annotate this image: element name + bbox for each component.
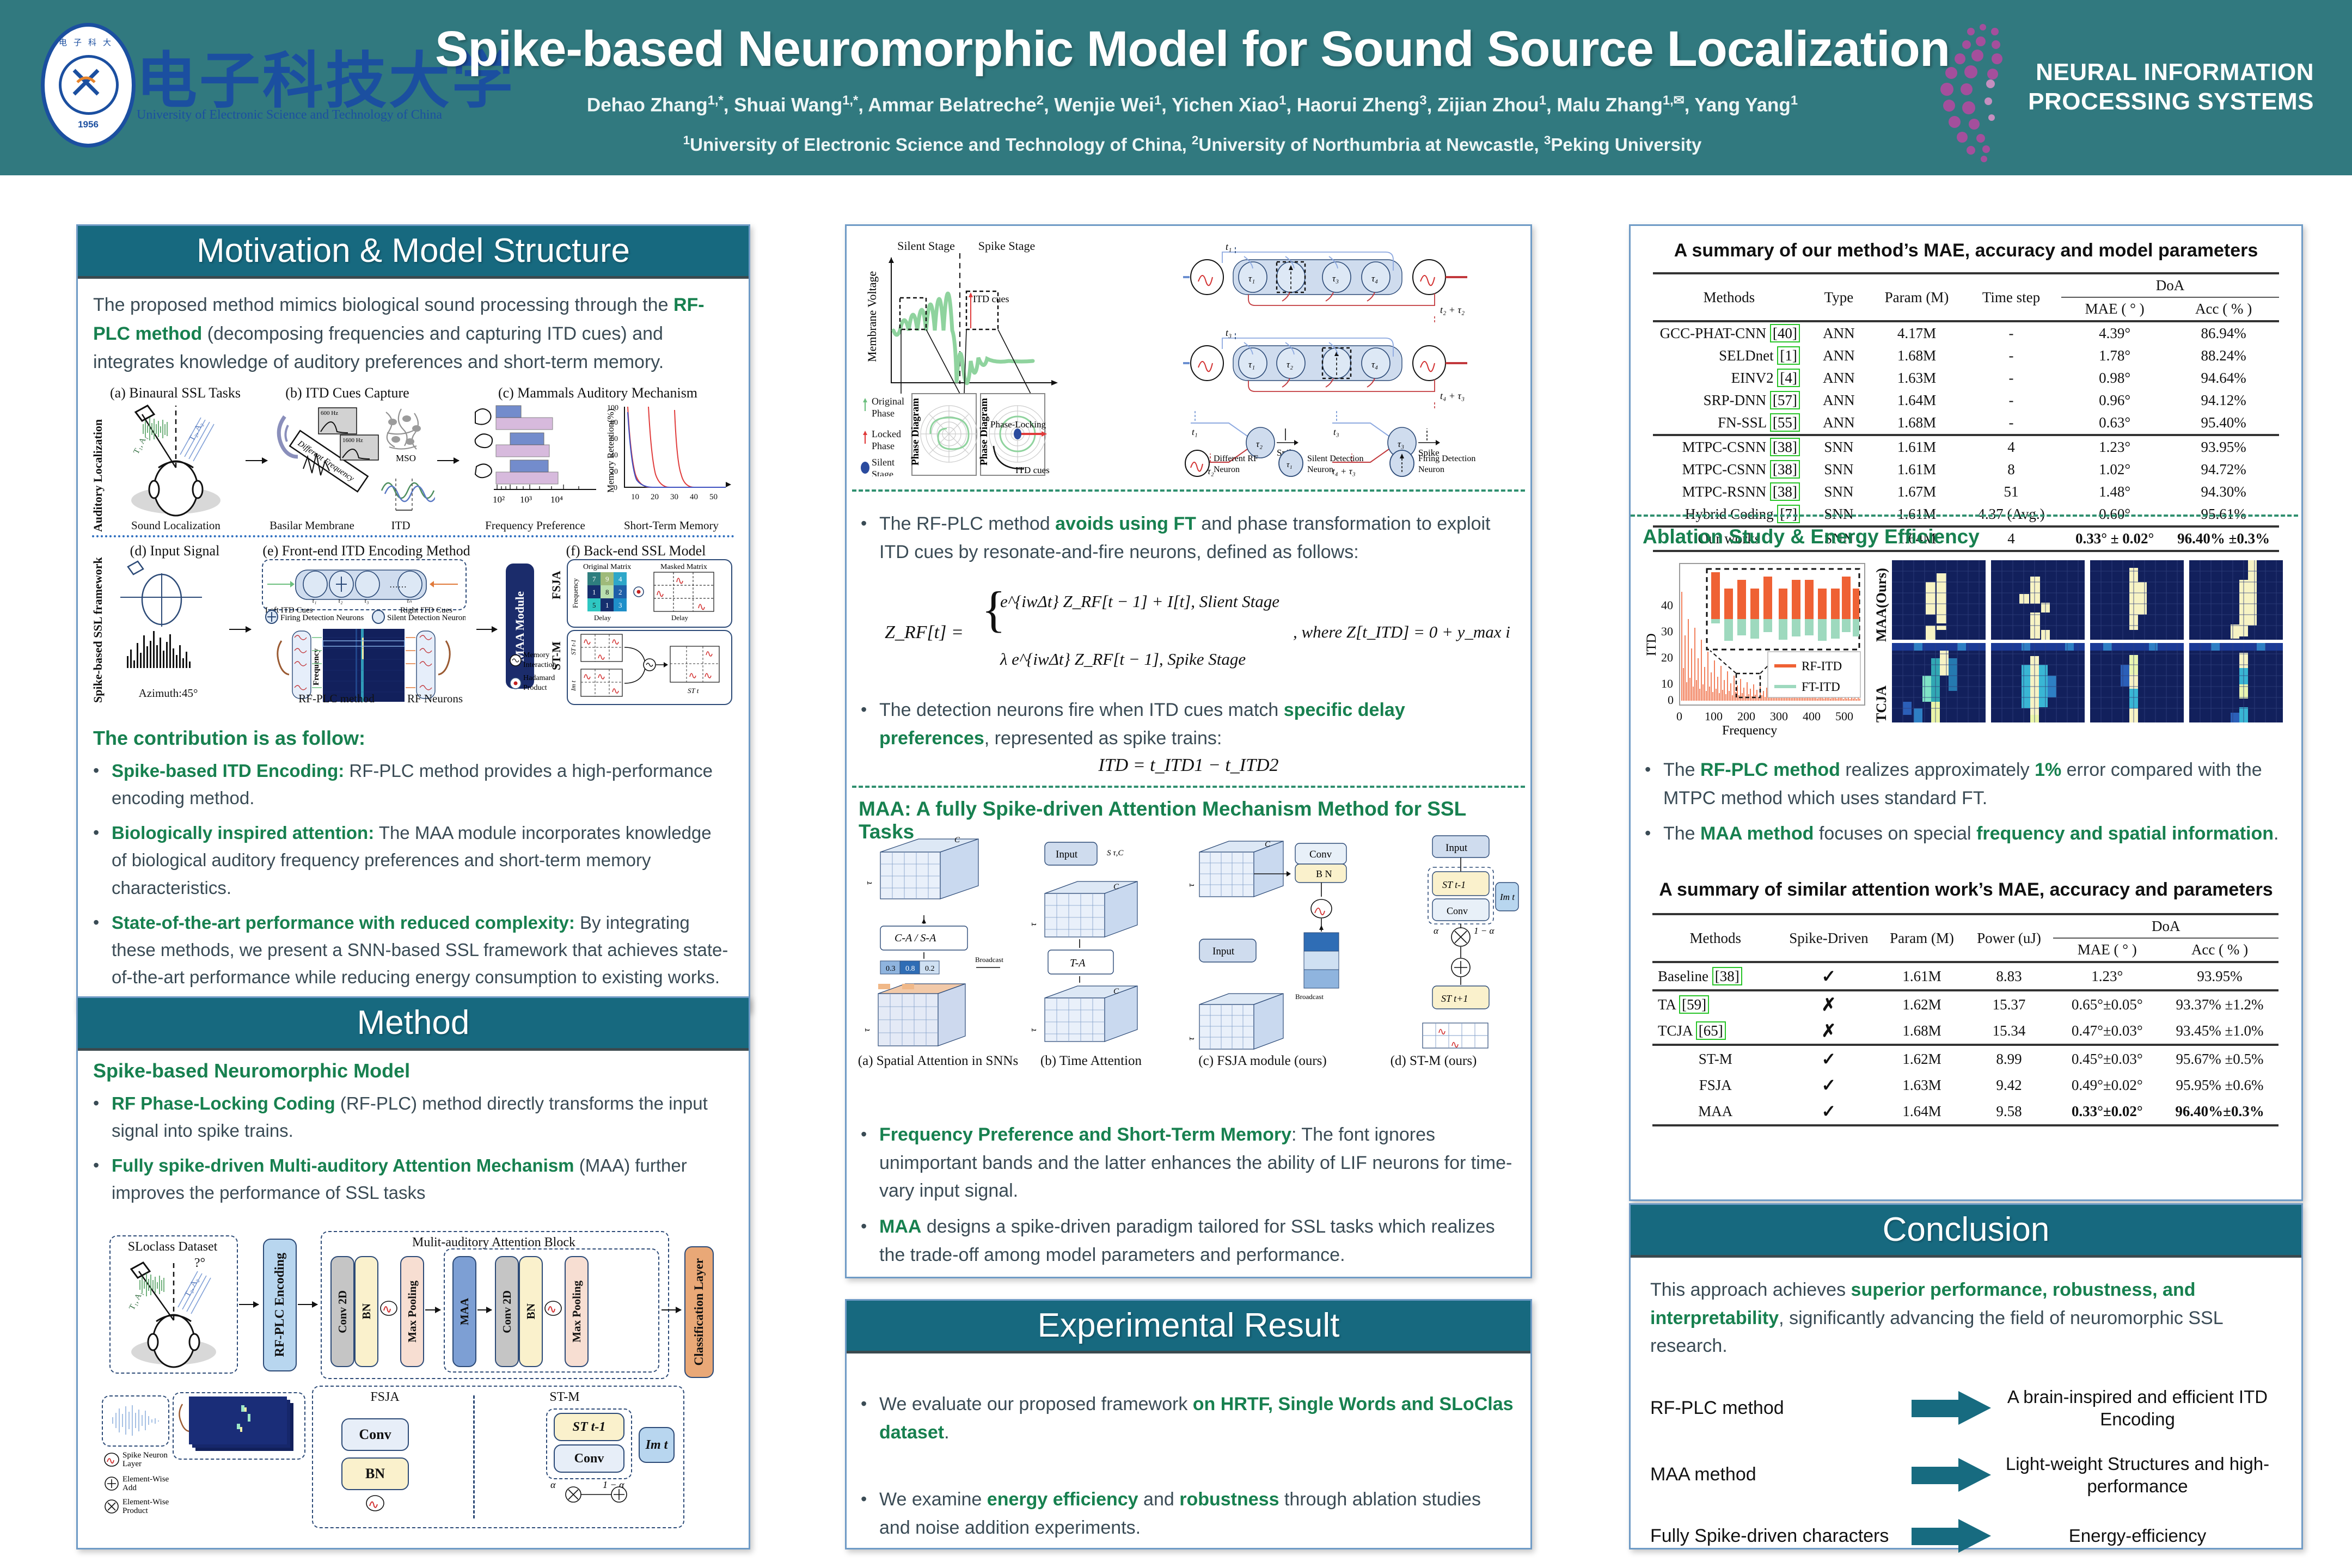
frequency-preference-icon: 10² 10³ 10⁴ — [470, 403, 606, 517]
conclusion-row-2: MAA method Light-weight Structures and h… — [1650, 1453, 2282, 1498]
svg-text:T₁, A₁: T₁, A₁ — [132, 434, 149, 456]
block-maxpool-2-label: Max Pooling — [570, 1281, 584, 1343]
ablation-bullet-2: • The MAA method focuses on special freq… — [1645, 820, 2287, 848]
abl-b2-pre: The — [1663, 823, 1700, 844]
svg-text:Frequency: Frequency — [1722, 724, 1777, 738]
svg-text:ITD cues: ITD cues — [973, 293, 1009, 304]
stm-conv-label: Conv — [574, 1451, 604, 1466]
block-conv2d-1: Conv 2D — [330, 1256, 354, 1367]
th-acc: Acc ( % ) — [2168, 297, 2279, 321]
contribution-1-lead: Spike-based ITD Encoding: — [112, 761, 344, 781]
svg-text:Masked Matrix: Masked Matrix — [660, 563, 707, 571]
th-timestep: Time step — [1961, 273, 2061, 321]
svg-text:Broadcast: Broadcast — [1295, 993, 1324, 1001]
svg-text:20: 20 — [1661, 651, 1673, 664]
svg-text:0.2: 0.2 — [925, 965, 935, 973]
svg-text:3: 3 — [618, 601, 622, 609]
figure-caption-e: (e) Front-end ITD Encoding Method — [258, 543, 475, 559]
svg-text:C: C — [954, 836, 960, 844]
th2-methods: Methods — [1652, 914, 1778, 962]
svg-text:0.8: 0.8 — [905, 965, 915, 973]
ustc-seal-year: 1956 — [45, 119, 132, 130]
svg-text:600 Hz: 600 Hz — [321, 410, 338, 416]
table-row: GCC-PHAT-CNN [40]ANN4.17M-4.39°86.94% — [1653, 321, 2279, 345]
exp-b2-highlight-1: energy efficiency — [987, 1489, 1138, 1510]
rfplc-encoding-pill: RF-PLC Encoding — [263, 1239, 297, 1371]
svg-text:8: 8 — [605, 588, 609, 596]
svg-text:2: 2 — [618, 588, 622, 596]
svg-text:Neuron: Neuron — [1307, 465, 1333, 474]
table-row: EINV2 [4]ANN1.63M-0.98°94.64% — [1653, 367, 2279, 389]
conclusion-row-1: RF-PLC method A brain-inspired and effic… — [1650, 1386, 2282, 1431]
svg-text:40: 40 — [610, 451, 618, 460]
table2-body: Baseline [38] ✓ 1.61M 8.83 1.23° 93.95% … — [1652, 962, 2278, 1126]
figure-divider — [92, 535, 734, 537]
conclusion-row-3-left: Fully Spike-driven characters — [1650, 1526, 1912, 1547]
svg-text:Original: Original — [872, 396, 904, 407]
svg-text:Neuron: Neuron — [1418, 465, 1444, 474]
figure-sub-a: Sound Localization — [111, 519, 241, 532]
abl-b2-hi: MAA method — [1700, 823, 1814, 844]
svg-text:Hadamard: Hadamard — [523, 674, 555, 682]
maa-bullet-1: • Frequency Preference and Short-Term Me… — [861, 1121, 1516, 1205]
rf-neuron-chain-diagram: τ₁τ₃τ₄ t₁ t₂ + τ₂ — [1179, 241, 1522, 481]
svg-text:τ: τ — [1189, 1037, 1196, 1040]
th-type: Type — [1805, 273, 1872, 321]
fsja-stm-divider — [473, 1395, 475, 1518]
maa-caption-a: (a) Spatial Attention in SNNs — [856, 1053, 1020, 1069]
svg-text:20: 20 — [610, 468, 618, 476]
neuron-type-legend: Different RF Neuron τ₁ Silent Detection … — [1184, 447, 1522, 481]
th-doa: DoA — [2061, 273, 2279, 297]
neurips-line-2: PROCESSING SYSTEMS — [2009, 87, 2314, 117]
waveform-icon — [104, 1399, 165, 1442]
svg-text:α: α — [1434, 926, 1439, 936]
equation-1-lhs: Z_RF[t] = — [885, 622, 964, 643]
svg-text:ITD: ITD — [1644, 633, 1659, 656]
svg-text:40: 40 — [1661, 598, 1673, 612]
svg-text:FT-ITD: FT-ITD — [1802, 680, 1840, 694]
block-conv2d-1-label: Conv 2D — [336, 1290, 350, 1333]
svg-text:Silent Detection: Silent Detection — [1307, 454, 1364, 463]
svg-text:B N: B N — [1316, 868, 1332, 879]
maa-b2-rest: designs a spike-driven paradigm tailored… — [879, 1216, 1495, 1265]
maa-caption-c: (c) FSJA module (ours) — [1181, 1053, 1344, 1069]
block-conv2d-2: Conv 2D — [495, 1256, 519, 1367]
svg-text:α: α — [550, 1479, 556, 1490]
page-title: Spike-based Neuromorphic Model for Sound… — [403, 21, 1982, 78]
motivation-figure: Auditory Localization Spike-based SSL fr… — [89, 384, 737, 710]
arrow-maa-to-conv2 — [477, 1309, 492, 1310]
spike-driven-mark: ✗ — [1778, 1018, 1879, 1045]
table1-title: A summary of our method’s MAE, accuracy … — [1641, 240, 2290, 261]
svg-text:C: C — [1113, 883, 1119, 891]
block-maa-label: MAA — [458, 1298, 471, 1325]
method-legend: Spike Neuron Layer Element-Wise Add Elem… — [103, 1450, 255, 1515]
svg-text:10: 10 — [631, 493, 639, 501]
svg-text:100: 100 — [607, 404, 618, 412]
spatial-attention-diagram: τ C C-A / S-A 0.3 0.8 0.2 Broadcast — [859, 830, 1022, 1059]
bullet-dot: • — [1645, 820, 1663, 848]
block-bn-1: BN — [354, 1256, 378, 1367]
block-maxpool-1: Max Pooling — [400, 1256, 424, 1367]
svg-text:S τ,C: S τ,C — [1107, 849, 1124, 857]
stm-module-diagram: Input ST t-1 Conv Im t α 1 − α ST t+1 — [1363, 830, 1521, 1059]
svg-text:Im t: Im t — [569, 680, 577, 691]
basilar-membrane-icon: Different Frequency 600 Hz 1600 Hz MSO — [272, 403, 435, 517]
fsja-module-diagram: τ C Conv B N Broadcast Input — [1189, 830, 1363, 1059]
svg-text:τ: τ — [861, 1028, 872, 1032]
table1-header-row: Methods Type Param (M) Time step DoA — [1653, 273, 2279, 297]
method-2-lead: Fully spike-driven Multi-auditory Attent… — [112, 1155, 574, 1175]
svg-text:Im t: Im t — [1499, 892, 1515, 902]
stm-prev-block: ST t-1 — [554, 1413, 624, 1441]
cell-method: MTPC-RSNN [38] — [1653, 481, 1805, 503]
table1-body: GCC-PHAT-CNN [40]ANN4.17M-4.39°86.94% SE… — [1653, 321, 2279, 552]
svg-text:Locked: Locked — [872, 428, 901, 439]
svg-text:100: 100 — [1705, 709, 1723, 723]
bullet-dot: • — [861, 696, 879, 752]
cell-method: SELDnet [1] — [1653, 345, 1805, 367]
method-heading: Method — [78, 998, 749, 1051]
fsja-stm-legend: Memory Interaction Hadamard Product — [508, 628, 562, 696]
svg-text:τ: τ — [1189, 883, 1196, 887]
figure-sub-b2: ITD — [371, 519, 431, 532]
svg-text:10³: 10³ — [520, 494, 532, 505]
svg-text:Silent Detection Neurons: Silent Detection Neurons — [387, 614, 465, 622]
stm-conv-block: Conv — [554, 1444, 624, 1473]
spike-driven-mark: ✓ — [1778, 962, 1879, 990]
ustc-english-name: University of Electronic Science and Tec… — [137, 108, 442, 122]
svg-text:t₂ + τ₂: t₂ + τ₂ — [1440, 304, 1465, 315]
svg-text:τ: τ — [863, 881, 874, 885]
svg-text:τ₄: τ₄ — [1371, 273, 1378, 284]
equation-1-case-1: e^{iwΔt} Z_RF[t − 1] + I[t], Slient Stag… — [1000, 592, 1279, 611]
equation-1-where: , where Z[t_ITD] = 0 + y_max i — [1293, 622, 1510, 642]
maa-bullet-2: • MAA designs a spike-driven paradigm ta… — [861, 1213, 1516, 1269]
fsja-detail-label: FSJA — [325, 1390, 445, 1405]
svg-text:1: 1 — [592, 588, 596, 596]
block-maxpool-1-label: Max Pooling — [406, 1281, 419, 1343]
svg-text:Firing Detection Neurons: Firing Detection Neurons — [280, 614, 364, 622]
svg-text:Product: Product — [122, 1506, 148, 1515]
figure-sub-b: Basilar Membrane — [268, 519, 356, 532]
svg-text:Phase-Locking: Phase-Locking — [990, 419, 1046, 430]
method-bullet-1: • RF Phase-Locking Coding (RF-PLC) metho… — [93, 1090, 733, 1144]
svg-text:τ₁: τ₁ — [1287, 461, 1293, 469]
maa-figure: τ C C-A / S-A 0.3 0.8 0.2 Broadcast — [856, 830, 1524, 1070]
svg-text:T-A: T-A — [1070, 957, 1086, 969]
abl-b1-hi2: 1% — [2035, 759, 2061, 780]
equation-1: Z_RF[t] = { e^{iwΔt} Z_RF[t − 1] + I[t],… — [879, 580, 1516, 683]
svg-text:τₙ: τₙ — [407, 597, 412, 604]
author-list: Dehao Zhang1,*, Shuai Wang1,*, Ammar Bel… — [403, 93, 1982, 117]
table-row: MTPC-CSNN [38]SNN1.61M41.23°93.95% — [1653, 435, 2279, 458]
th2-param: Param (M) — [1879, 914, 1964, 962]
block-bn-1-label: BN — [360, 1303, 373, 1319]
arrow-pool1-to-maa — [425, 1309, 440, 1310]
figure-caption-a: (a) Binaural SSL Tasks — [107, 385, 243, 401]
svg-text:50: 50 — [709, 493, 718, 501]
th2-doa: DoA — [2053, 914, 2278, 938]
svg-text:τ: τ — [1028, 922, 1038, 926]
figure-caption-f: (f) Back-end SSL Model — [546, 543, 726, 559]
abl-b1-mid: realizes approximately — [1840, 759, 2035, 780]
rfplc-b1-highlight: avoids using FT — [1055, 513, 1196, 534]
ustc-seal-top-text: 电子科大 — [45, 36, 132, 48]
table-row: TA [59] ✗ 1.62M 15.37 0.65°±0.05° 93.37%… — [1652, 990, 2278, 1018]
block-bn-2-label: BN — [524, 1303, 538, 1319]
stm-detail-label: ST-M — [505, 1390, 624, 1405]
bullet-dot: • — [93, 819, 112, 901]
method-1-lead: RF Phase-Locking Coding — [112, 1093, 335, 1113]
abl-b2-hi2: frequency and spatial information — [1976, 823, 2274, 844]
rfplc-b1-a: The RF-PLC method — [879, 513, 1055, 534]
rfplc-encoding-label: RF-PLC Encoding — [273, 1253, 287, 1357]
spike-driven-mark: ✓ — [1778, 1072, 1879, 1098]
cell-method: TA [59] — [1652, 990, 1778, 1018]
svg-text:Layer: Layer — [122, 1460, 142, 1468]
neurips-wordmark: NEURAL INFORMATION PROCESSING SYSTEMS — [2009, 58, 2314, 116]
svg-text:Conv: Conv — [1309, 849, 1332, 860]
method-panel: Method Spike-based Neuromorphic Model • … — [76, 996, 750, 1549]
svg-text:Memory: Memory — [523, 651, 549, 659]
method-bullet-2: • Fully spike-driven Multi-auditory Atte… — [93, 1152, 733, 1206]
conclusion-row-3: Fully Spike-driven characters Energy-eff… — [1650, 1519, 2282, 1553]
svg-text:Phase Diagram: Phase Diagram — [910, 398, 921, 465]
svg-text:80: 80 — [610, 419, 618, 427]
conclusion-row-3-right: Energy-efficiency — [1993, 1524, 2282, 1547]
membrane-voltage-chart: Membrane Voltage ITD cues OriginalPhase … — [857, 248, 1184, 476]
svg-text:7: 7 — [592, 575, 596, 583]
svg-text:Phase: Phase — [872, 408, 895, 419]
th-mae: MAE ( ° ) — [2061, 297, 2168, 321]
spike-driven-mark: ✗ — [1778, 990, 1879, 1018]
abl-b2-post: . — [2274, 823, 2278, 844]
svg-text:10⁴: 10⁴ — [550, 494, 563, 505]
svg-text:Delay: Delay — [671, 614, 689, 622]
row1-side-label: Auditory Localization — [91, 407, 105, 532]
classification-layer-label: Classification Layer — [692, 1258, 706, 1365]
svg-text:1600 Hz: 1600 Hz — [342, 437, 363, 444]
th2-acc: Acc ( % ) — [2161, 938, 2278, 962]
cell-method: MAA — [1652, 1098, 1778, 1125]
th2-mae: MAE ( ° ) — [2053, 938, 2161, 962]
conclusion-row-1-left: RF-PLC method — [1650, 1398, 1912, 1419]
exp-b1-pre: We evaluate our proposed framework — [879, 1394, 1193, 1414]
attention-block-title: Mulit-auditory Attention Block — [326, 1235, 661, 1250]
svg-text:ST t: ST t — [688, 687, 699, 695]
bullet-dot: • — [861, 510, 879, 566]
results-divider-1 — [1631, 514, 2298, 517]
cell-method: SRP-DNN [57] — [1653, 389, 1805, 412]
svg-text:τ₃: τ₃ — [1332, 273, 1339, 284]
svg-text:40: 40 — [690, 493, 698, 501]
equation-1-case-2: λ e^{iwΔt} Z_RF[t − 1], Spike Stage — [1000, 650, 1246, 669]
experimental-heading: Experimental Result — [847, 1301, 1530, 1353]
fsja-matrix-figure: Original Matrix Masked Matrix 7 9 4 1 8 … — [568, 560, 729, 626]
figure-sub-c: Frequency Preference — [464, 519, 606, 532]
th-param: Param (M) — [1872, 273, 1961, 321]
results-table-2: Methods Spike-Driven Param (M) Power (uJ… — [1652, 913, 2278, 1126]
svg-text:τ₁: τ₁ — [312, 597, 316, 604]
table2-title: A summary of similar attention work’s MA… — [1637, 879, 2295, 901]
stm-figure: ST t-1 Im t ST t — [568, 631, 729, 703]
arrow-right-icon-3 — [1912, 1519, 1993, 1553]
svg-text:τ: τ — [1028, 1028, 1038, 1032]
fsja-conv-label: Conv — [359, 1426, 391, 1443]
attention-heatmaps — [1892, 560, 2284, 724]
arrow-right-icon-1 — [1912, 1391, 1993, 1425]
rfplc-figure: Silent Stage Spike Stage Membrane Voltag… — [852, 231, 1527, 482]
svg-text:20: 20 — [651, 493, 659, 501]
svg-text:Input: Input — [1212, 946, 1235, 957]
cell-method: FN-SSL [55] — [1653, 412, 1805, 435]
svg-text:t₃: t₃ — [1333, 427, 1339, 437]
conclusion-row-1-right: A brain-inspired and efficient ITD Encod… — [1993, 1386, 2282, 1431]
fsja-spike-icon — [363, 1491, 387, 1515]
arrow-encoder-to-block — [298, 1304, 317, 1305]
svg-text:0: 0 — [614, 484, 617, 492]
svg-text:Conv: Conv — [1447, 905, 1468, 916]
svg-text:t₁: t₁ — [1226, 241, 1232, 252]
svg-text:Spike Neuron: Spike Neuron — [122, 1451, 168, 1460]
neurips-logo: NEURAL INFORMATION PROCESSING SYSTEMS — [1938, 15, 2319, 162]
ustc-seal-mark-icon — [70, 66, 102, 99]
table-row: TCJA [65] ✗ 1.68M 15.34 0.47°±0.03° 93.4… — [1652, 1018, 2278, 1045]
svg-text:τ₁: τ₁ — [1248, 359, 1255, 370]
detection-neuron-legend: Firing Detection Neurons Silent Detectio… — [264, 609, 465, 626]
bullet-dot: • — [93, 909, 112, 991]
rfplc-b2-a: The detection neurons fire when ITD cues… — [879, 700, 1284, 720]
stm-prev-label: ST t-1 — [573, 1420, 606, 1435]
results-table-1: Methods Type Param (M) Time step DoA MAE… — [1653, 272, 2279, 552]
svg-text:ITD cues: ITD cues — [1015, 465, 1050, 475]
affiliation-list: 1University of Electronic Science and Te… — [403, 133, 1982, 155]
svg-text:RF-ITD: RF-ITD — [1802, 659, 1842, 673]
conclusion-text: This approach achieves superior performa… — [1650, 1276, 2282, 1361]
ablation-heading: Ablation Study & Energy Efficiency — [1643, 525, 1980, 548]
cell-method: TCJA [65] — [1652, 1018, 1778, 1045]
abl-b1-pre: The — [1663, 759, 1700, 780]
abl-b2-mid: focuses on special — [1814, 823, 1976, 844]
cell-method: Baseline [38] — [1652, 962, 1778, 990]
svg-text:Phase Diagram: Phase Diagram — [978, 398, 990, 465]
svg-text:t₃: t₃ — [1226, 327, 1232, 338]
time-attention-diagram: Input S τ,C C τ T-A τ — [1023, 830, 1186, 1059]
maa-caption-d: (d) ST-M (ours) — [1357, 1053, 1510, 1069]
svg-text:Frequency: Frequency — [571, 578, 579, 608]
ustc-seal-icon: 电子科大 1956 — [41, 23, 136, 148]
svg-text:0: 0 — [1676, 709, 1682, 723]
bullet-dot: • — [861, 1121, 879, 1205]
svg-text:4: 4 — [618, 575, 622, 583]
results-panel: A summary of our method’s MAE, accuracy … — [1629, 224, 2303, 1201]
spike-driven-mark: ✓ — [1778, 1098, 1879, 1125]
conclusion-row-2-right: Light-weight Structures and high-perform… — [1993, 1453, 2282, 1498]
svg-text:Element-Wise: Element-Wise — [122, 1498, 169, 1506]
arrow-b-to-c — [437, 460, 459, 461]
stm-alpha-merge-icon: α 1 − α — [537, 1478, 663, 1522]
svg-text:T₁, A₁: T₁, A₁ — [127, 1290, 145, 1312]
svg-text:Original Matrix: Original Matrix — [583, 563, 631, 571]
rfplc-maa-panel: Silent Stage Spike Stage Membrane Voltag… — [845, 224, 1532, 1278]
svg-text:Firing Detection: Firing Detection — [1418, 454, 1475, 463]
abl-b1-hi: RF-PLC method — [1700, 759, 1840, 780]
cell-method: FSJA — [1652, 1072, 1778, 1098]
svg-text:0.3: 0.3 — [886, 965, 896, 973]
svg-text:C-A / S-A: C-A / S-A — [895, 932, 936, 944]
exp-b2-mid: and — [1138, 1489, 1180, 1510]
table-row: SRP-DNN [57]ANN1.64M-0.96°94.12% — [1653, 389, 2279, 412]
maa-b2-lead: MAA — [879, 1216, 921, 1237]
spike-driven-mark: ✓ — [1778, 1045, 1879, 1072]
contribution-bullet-2: • Biologically inspired attention: The M… — [93, 819, 731, 901]
rfplc-bullet-2: • The detection neurons fire when ITD cu… — [861, 696, 1516, 752]
exp-b1-post: . — [944, 1422, 949, 1443]
conclusion-text-a: This approach achieves — [1650, 1279, 1851, 1300]
short-term-memory-chart: Memory Retention(%) 02040 6080100 102030… — [606, 400, 731, 517]
ablation-figure: ITD 403020 100 0100200 300400500 Frequen… — [1641, 558, 2289, 738]
contribution-title: The contribution is as follow: — [93, 727, 731, 750]
row2-side-label: Spike-based SSL framework — [91, 557, 105, 703]
bullet-dot: • — [861, 1391, 879, 1447]
svg-text:Element-Wise: Element-Wise — [122, 1475, 169, 1484]
cell-method: ST-M — [1652, 1045, 1778, 1072]
heatmap-row1-label: MAA(Ours) — [1873, 566, 1890, 642]
motivation-panel: Motivation & Model Structure The propose… — [76, 224, 750, 1012]
figure-sub-d: Azimuth:45° — [114, 687, 223, 700]
svg-text:300: 300 — [1770, 709, 1788, 723]
figure-caption-d: (d) Input Signal — [109, 543, 240, 559]
svg-text:1 − α: 1 − α — [1474, 926, 1494, 936]
neurips-line-1: NEURAL INFORMATION — [2009, 58, 2314, 87]
svg-text:30: 30 — [670, 493, 678, 501]
svg-text:τ₂: τ₂ — [338, 597, 342, 604]
input-signal-icon — [116, 559, 236, 684]
experimental-bullet-2: • We examine energy efficiency and robus… — [861, 1486, 1514, 1542]
rfplc-divider-1 — [852, 489, 1525, 492]
heatmap-row2-label: TCJA — [1873, 657, 1890, 722]
svg-text:t₁: t₁ — [1192, 427, 1198, 437]
bullet-dot: • — [861, 1486, 879, 1542]
svg-text:0: 0 — [1668, 693, 1674, 707]
method-subtitle: Spike-based Neuromorphic Model — [93, 1059, 733, 1082]
table2-header-row: Methods Spike-Driven Param (M) Power (uJ… — [1652, 914, 2278, 938]
svg-text:MSO: MSO — [396, 453, 416, 463]
svg-text:500: 500 — [1835, 709, 1853, 723]
spike-neuron-icon-1 — [378, 1297, 399, 1319]
block-conv2d-2-label: Conv 2D — [500, 1290, 514, 1333]
bullet-dot: • — [1645, 756, 1663, 812]
exp-b2-pre: We examine — [879, 1489, 987, 1510]
contribution-bullet-1: • Spike-based ITD Encoding: RF-PLC metho… — [93, 757, 731, 812]
svg-text:Input: Input — [1056, 849, 1078, 860]
svg-text:Input: Input — [1445, 842, 1468, 854]
figure-caption-b: (b) ITD Cues Capture — [268, 385, 426, 401]
svg-text:C: C — [1265, 840, 1271, 849]
arrow-a-to-b — [246, 460, 267, 461]
svg-text:400: 400 — [1803, 709, 1821, 723]
svg-text:10: 10 — [1661, 677, 1673, 690]
rfplc-bullet-1: • The RF-PLC method avoids using FT and … — [861, 510, 1516, 566]
svg-text:C: C — [1113, 987, 1119, 996]
svg-text:Phase: Phase — [872, 440, 895, 451]
spike-neuron-icon-2 — [543, 1297, 563, 1319]
cell-method: GCC-PHAT-CNN [40] — [1653, 321, 1805, 345]
figure-sub-e2: RF Neurons — [391, 692, 479, 706]
ustc-logo: 电子科大 1956 电子科技大学 University of Electroni… — [30, 11, 411, 163]
